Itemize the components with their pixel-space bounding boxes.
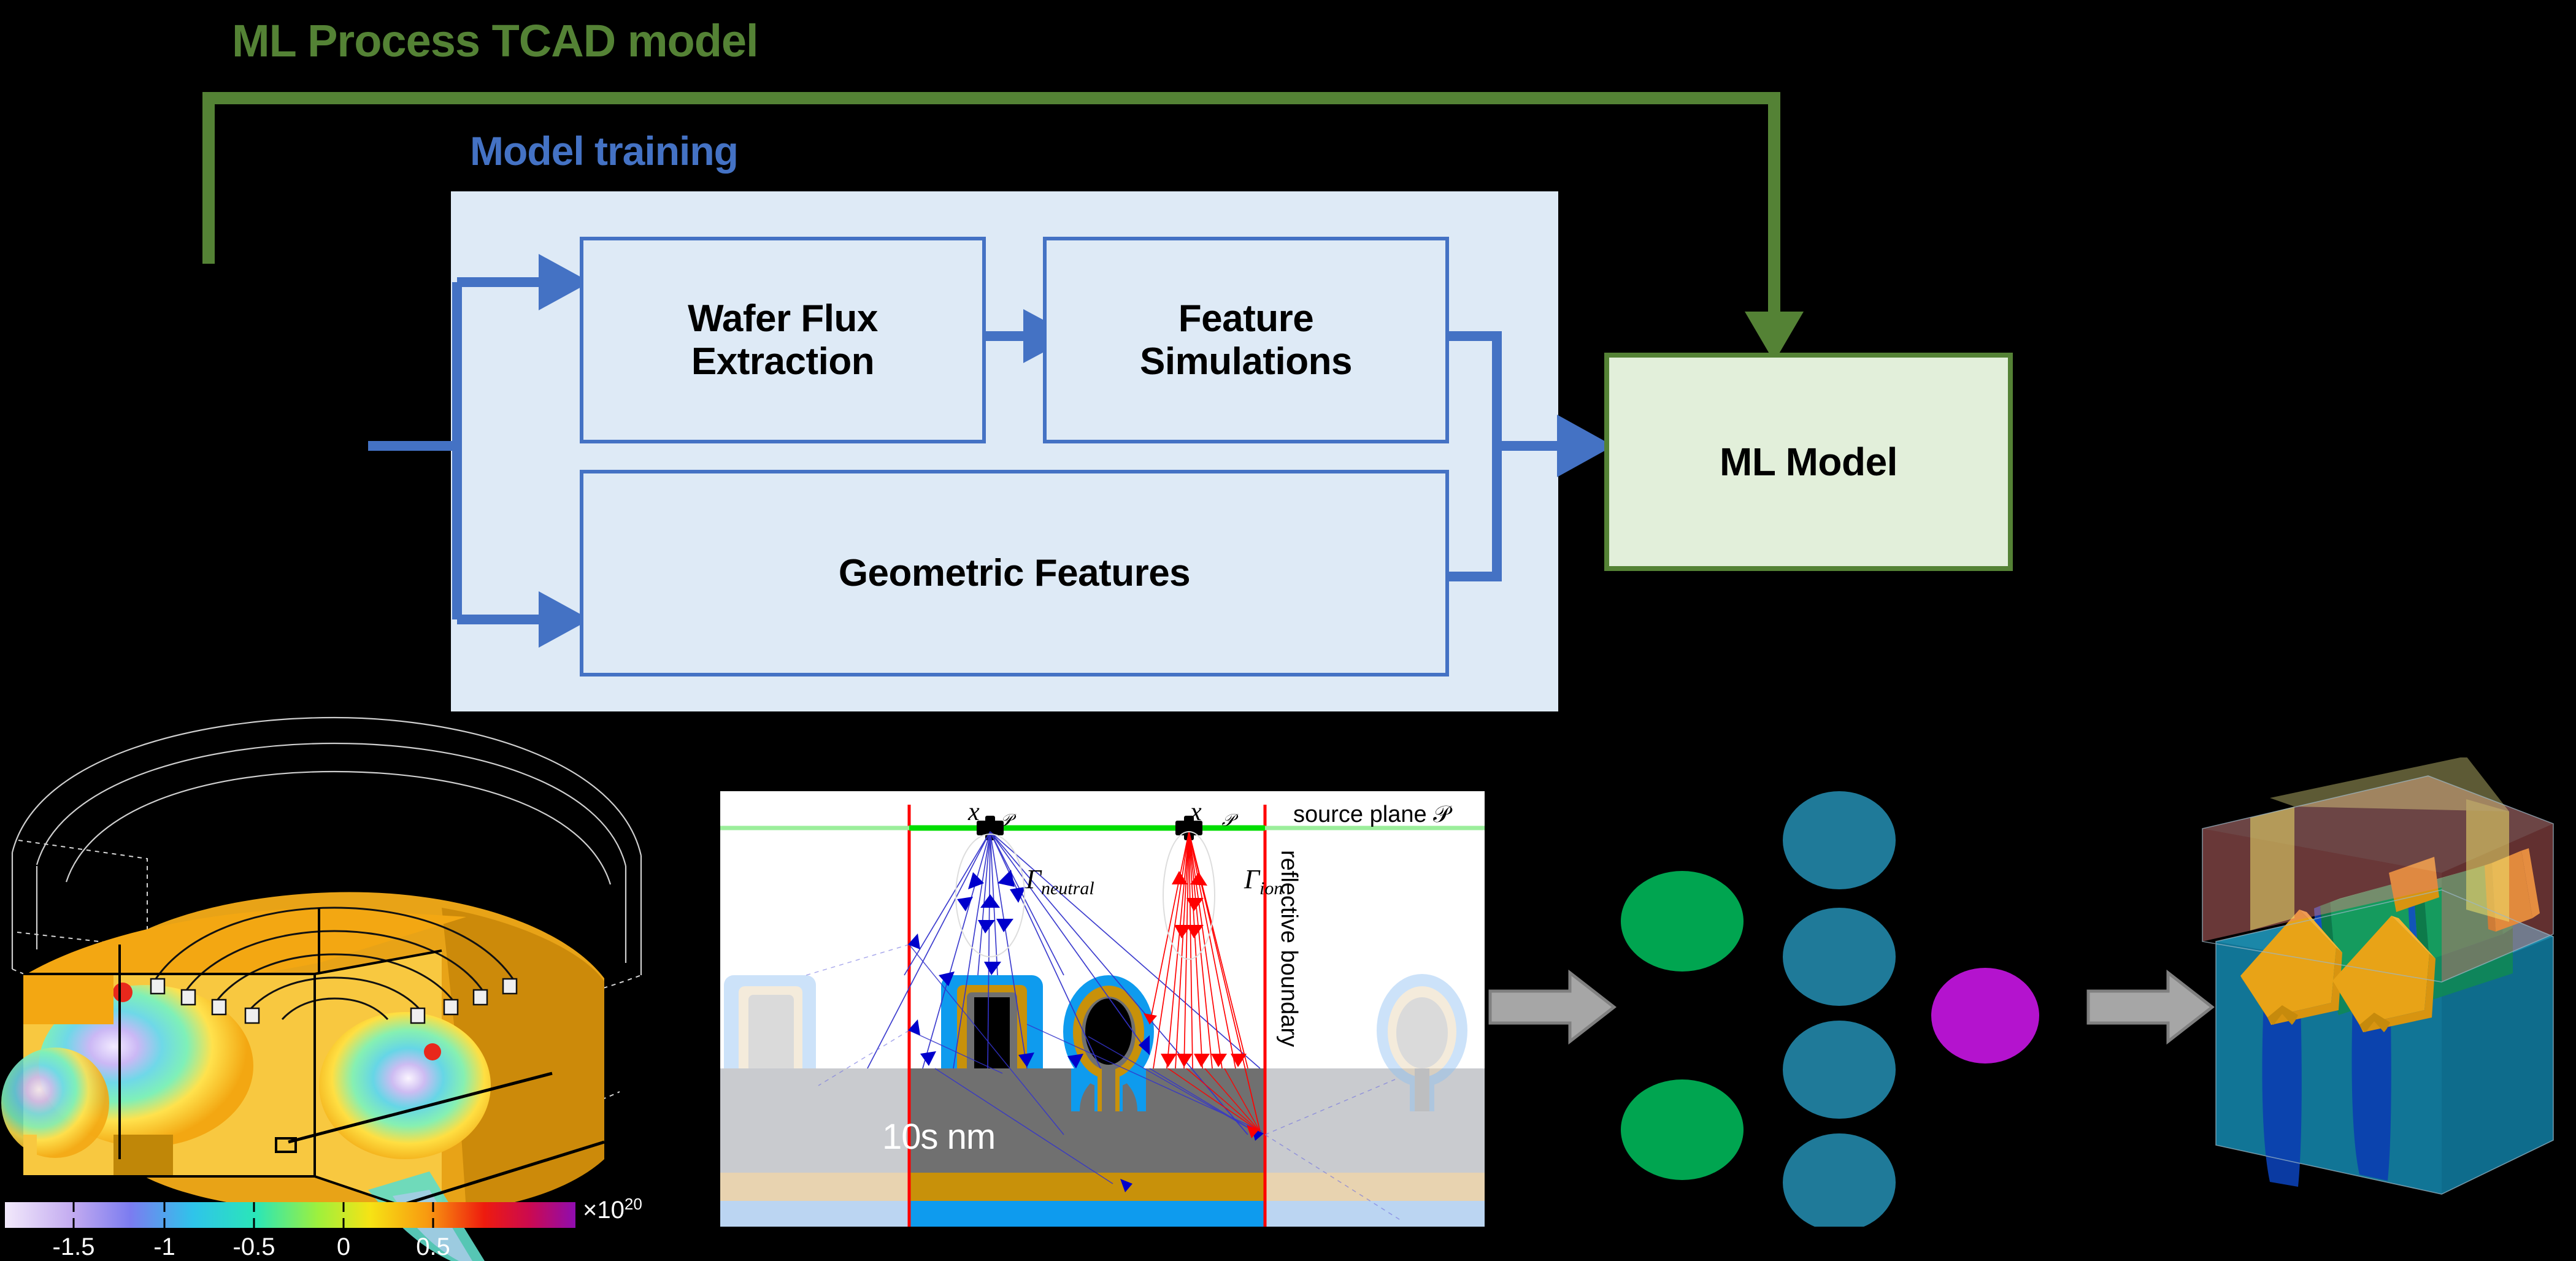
nn-input-node-1 xyxy=(1621,871,1744,972)
x-vector-source-left-label: x⃗𝒫 xyxy=(968,797,1012,830)
wafer-flux-line-1: Wafer Flux xyxy=(688,297,878,340)
nn-hidden-node-2 xyxy=(1783,908,1896,1006)
gamma-neutral-label: Γneutral xyxy=(1026,864,1094,899)
colorbar-multiplier: ×1020 xyxy=(583,1195,642,1224)
void-feature xyxy=(1063,975,1154,1111)
ml-process-tcad-title: ML Process TCAD model xyxy=(232,15,758,67)
colorbar-tick-4: 0.5 xyxy=(416,1233,450,1260)
flowchart-box-wafer-flux-extraction[interactable]: Wafer Flux Extraction xyxy=(580,237,986,443)
reactor-colorbar: -1.5 -1 -0.5 0 0.5 ×1020 xyxy=(5,1195,642,1260)
gamma-ion-label: Γion xyxy=(1244,864,1283,899)
ml-model-label: ML Model xyxy=(1720,439,1897,485)
flowchart-box-feature-simulations[interactable]: Feature Simulations xyxy=(1043,237,1449,443)
source-plane-label: source plane 𝒫 xyxy=(1293,802,1450,828)
feature-simulation-panel xyxy=(720,791,1485,1227)
feature-scale-label: 10s nm xyxy=(882,1116,995,1157)
feature-sim-line-2: Simulations xyxy=(1140,340,1352,383)
nn-input-node-2 xyxy=(1621,1079,1744,1180)
colorbar-tick-3: 0 xyxy=(337,1233,350,1260)
nn-hidden-node-3 xyxy=(1783,1021,1896,1119)
nn-input-layer xyxy=(1621,871,1744,1180)
neural-network-diagram xyxy=(1577,767,2086,1227)
nn-hidden-node-1 xyxy=(1783,791,1896,889)
ml-model-box[interactable]: ML Model xyxy=(1604,353,2013,571)
feature-sim-line-1: Feature xyxy=(1140,297,1352,340)
colorbar-tick-0: -1.5 xyxy=(53,1233,95,1260)
nn-hidden-layer xyxy=(1783,791,1896,1227)
reactor-simulation-plot: -1.5 -1 -0.5 0 0.5 ×1020 xyxy=(0,705,669,1261)
wafer-flux-line-2: Extraction xyxy=(688,340,878,383)
flowchart-box-geometric-features[interactable]: Geometric Features xyxy=(580,470,1449,676)
colorbar-tick-1: -1 xyxy=(153,1233,175,1260)
x-vector-source-right-label: x⃗𝒫 xyxy=(1190,797,1234,830)
nn-output-node xyxy=(1931,968,2039,1064)
device-structure-3d xyxy=(2178,757,2576,1208)
colorbar-tick-2: -0.5 xyxy=(233,1233,275,1260)
geometric-features-label: Geometric Features xyxy=(839,552,1190,594)
